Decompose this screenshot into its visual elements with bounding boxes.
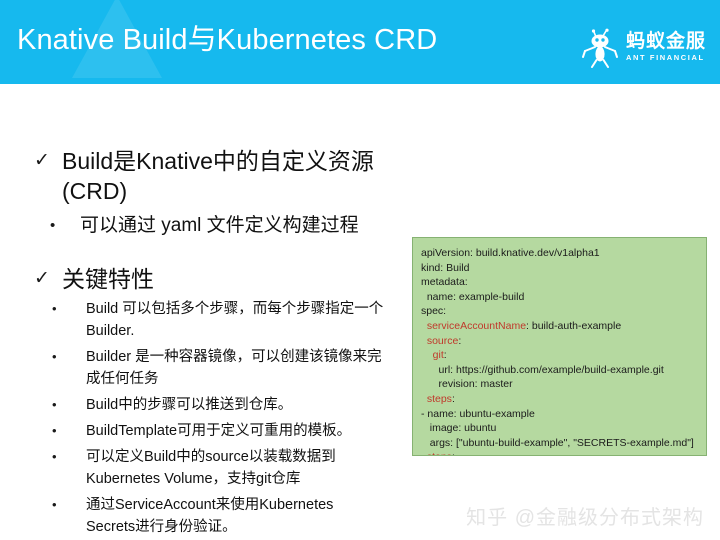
yaml-code-line: image: ubuntu: [421, 421, 700, 436]
dot-icon: •: [28, 346, 86, 368]
dot-icon: •: [28, 298, 86, 320]
yaml-key: serviceAccountName: [421, 320, 526, 332]
yaml-code-line: serviceAccountName: build-auth-example: [421, 319, 700, 334]
footer-watermark: 知乎 @金融级分布式架构: [466, 501, 704, 530]
yaml-code-line: - name: ubuntu-example: [421, 407, 700, 422]
yaml-code-line: steps:: [421, 392, 700, 407]
yaml-code-line: kind: Build: [421, 261, 700, 276]
yaml-code-line: spec:: [421, 304, 700, 319]
bullet-item: • 可以定义Build中的source以装载数据到Kubernetes Volu…: [28, 446, 408, 490]
bullet-item: • 可以通过 yaml 文件定义构建过程: [28, 212, 408, 240]
slide-header: Knative Build与Kubernetes CRD: [0, 0, 720, 84]
bullet-text: 通过ServiceAccount来使用Kubernetes Secrets进行身…: [86, 494, 386, 538]
bullet-text: 可以定义Build中的source以装载数据到Kubernetes Volume…: [86, 446, 386, 490]
check-icon: ✓: [28, 264, 62, 294]
spacer: [28, 242, 408, 264]
dot-icon: •: [28, 212, 80, 240]
bullet-item: • 通过ServiceAccount来使用Kubernetes Secrets进…: [28, 494, 408, 538]
yaml-code-line: metadata:: [421, 275, 700, 290]
logo-wordmark: 蚂蚁金服 ANT FINANCIAL: [626, 32, 706, 62]
bullet-item: ✓ Build是Knative中的自定义资源(CRD): [28, 146, 408, 206]
yaml-code-block: apiVersion: build.knative.dev/v1alpha1ki…: [412, 237, 707, 456]
yaml-key: source: [421, 335, 458, 347]
dot-icon: •: [28, 494, 86, 516]
yaml-key: steps: [421, 451, 452, 456]
bullet-text: Build 可以包括多个步骤，而每个步骤指定一个 Builder.: [86, 298, 386, 342]
dot-icon: •: [28, 394, 86, 416]
yaml-code-line: name: example-build: [421, 290, 700, 305]
bullet-list: ✓ Build是Knative中的自定义资源(CRD) • 可以通过 yaml …: [28, 146, 408, 538]
yaml-code-line: url: https://github.com/example/build-ex…: [421, 363, 700, 378]
yaml-code-line: steps:: [421, 450, 700, 456]
logo-cn-text: 蚂蚁金服: [626, 32, 706, 51]
bullet-text: Build中的步骤可以推送到仓库。: [86, 394, 292, 416]
bullet-item: • Build 可以包括多个步骤，而每个步骤指定一个 Builder.: [28, 298, 408, 342]
yaml-code-line: apiVersion: build.knative.dev/v1alpha1: [421, 246, 700, 261]
yaml-code-line: git:: [421, 348, 700, 363]
yaml-key: steps: [421, 393, 452, 405]
bullet-text: 关键特性: [62, 264, 154, 294]
bullet-text: Builder 是一种容器镜像，可以创建该镜像来完成任何任务: [86, 346, 386, 390]
yaml-code-line: source:: [421, 334, 700, 349]
ant-mascot-icon: [580, 26, 620, 68]
bullet-item: • Build中的步骤可以推送到仓库。: [28, 394, 408, 416]
yaml-code-line: args: ["ubuntu-build-example", "SECRETS-…: [421, 436, 700, 451]
bullet-text: 可以通过 yaml 文件定义构建过程: [80, 212, 359, 240]
bullet-text: Build是Knative中的自定义资源(CRD): [62, 146, 408, 206]
bullet-item: ✓ 关键特性: [28, 264, 408, 294]
yaml-key: git: [421, 349, 444, 361]
ant-financial-logo: 蚂蚁金服 ANT FINANCIAL: [580, 26, 706, 68]
check-icon: ✓: [28, 146, 62, 176]
bullet-text: BuildTemplate可用于定义可重用的模板。: [86, 420, 351, 442]
dot-icon: •: [28, 420, 86, 442]
page-title: Knative Build与Kubernetes CRD: [17, 20, 437, 60]
dot-icon: •: [28, 446, 86, 468]
yaml-code-line: revision: master: [421, 377, 700, 392]
bullet-item: • BuildTemplate可用于定义可重用的模板。: [28, 420, 408, 442]
slide-body: ✓ Build是Knative中的自定义资源(CRD) • 可以通过 yaml …: [0, 84, 720, 540]
logo-en-text: ANT FINANCIAL: [626, 54, 705, 62]
bullet-item: • Builder 是一种容器镜像，可以创建该镜像来完成任何任务: [28, 346, 408, 390]
